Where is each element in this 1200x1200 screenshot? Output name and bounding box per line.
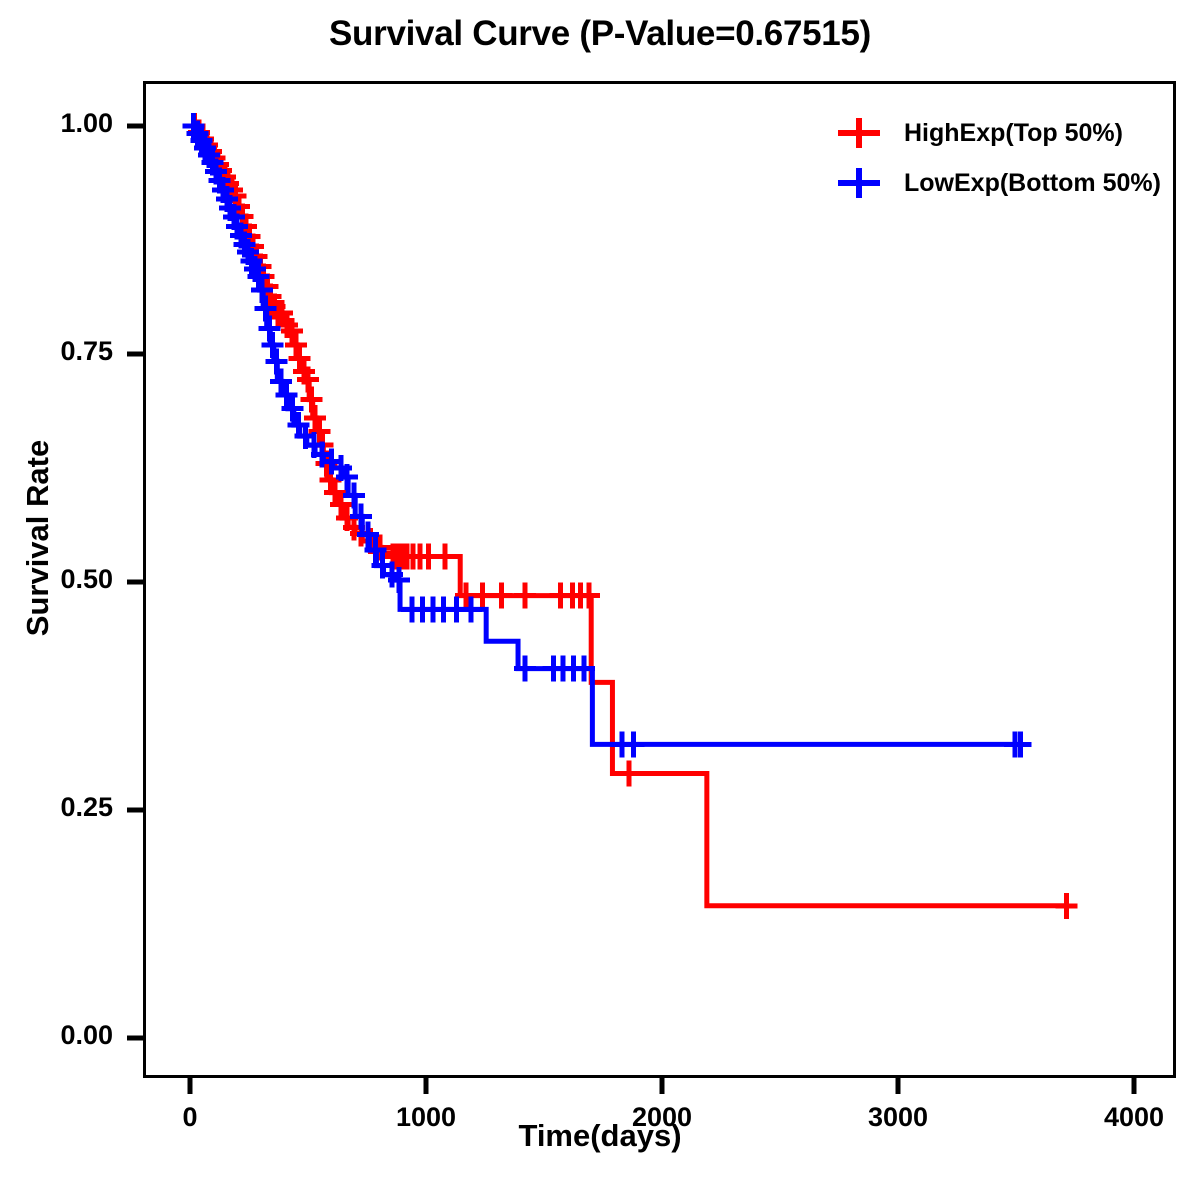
y-axis-title: Survival Rate [20,408,56,668]
y-axis-tick-label: 0.25 [3,792,113,823]
axis-ticks [127,126,1134,1094]
plus-marker-vertical [856,118,862,148]
y-axis-tick-label: 0.75 [3,336,113,367]
x-axis-title: Time(days) [0,1118,1200,1154]
series-lines [183,113,1078,919]
censor-mark [491,583,513,609]
censor-mark [623,731,645,757]
survival-curve-low-exp [183,113,1032,757]
legend-item-low-exp[interactable]: LowExp(Bottom 50%) [836,158,1176,208]
chart-legend: HighExp(Top 50%) LowExp(Bottom 50%) [836,108,1176,208]
plus-marker-icon [836,116,882,150]
y-axis-tick-label: 0.00 [3,1020,113,1051]
legend-label-low-exp: LowExp(Bottom 50%) [882,169,1161,198]
legend-label-high-exp: HighExp(Top 50%) [882,119,1123,148]
survival-curve-high-exp [184,113,1078,919]
censor-mark [472,583,494,609]
plus-marker-vertical [856,168,862,198]
plus-marker-icon [836,166,882,200]
censor-mark [434,543,456,569]
censor-mark [460,596,482,622]
censor-mark [1056,893,1078,919]
censor-mark [514,583,536,609]
censor-mark [618,761,640,787]
censor-mark [265,348,287,374]
y-axis-tick-label: 1.00 [3,108,113,139]
censor-mark [301,387,323,413]
step-line [190,126,1068,906]
censor-mark [262,332,284,358]
legend-item-high-exp[interactable]: HighExp(Top 50%) [836,108,1176,158]
survival-curve-figure: Survival Curve (P-Value=0.67515) 0.000.2… [0,0,1200,1200]
